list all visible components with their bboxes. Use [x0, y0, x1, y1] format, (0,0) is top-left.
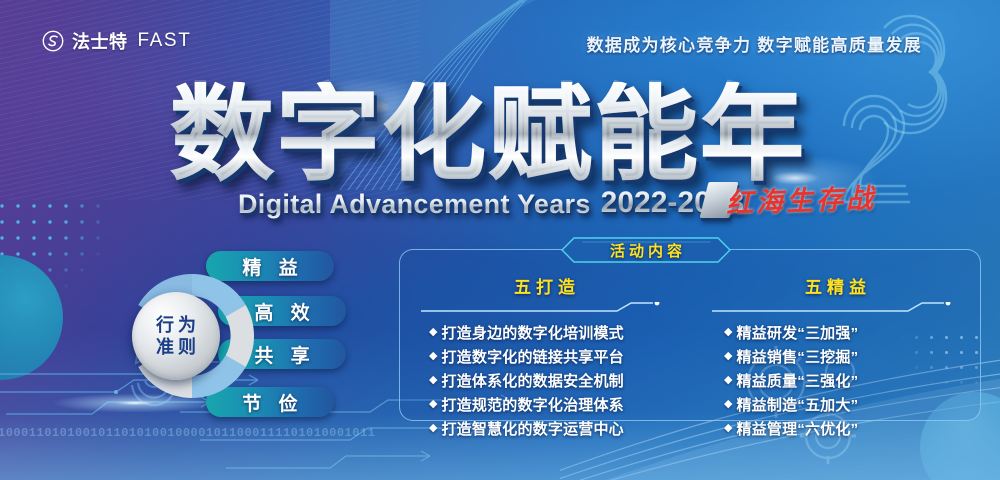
bullet-icon: ◆: [724, 327, 732, 338]
bullet-icon: ◆: [724, 399, 732, 410]
list-item[interactable]: ◆ 精益制造“五加大”: [724, 394, 981, 415]
bullet-icon: ◆: [429, 327, 437, 338]
bullet-icon: ◆: [429, 375, 437, 386]
list-item-label: 打造规范的数字化治理体系: [441, 394, 623, 415]
list-item[interactable]: ◆ 精益研发“三加强”: [724, 322, 981, 343]
list-item-label: 打造身边的数字化培训模式: [441, 322, 623, 343]
subtitle-english: Digital Advancement Years: [238, 189, 591, 220]
column-title-1: 五精益: [690, 273, 981, 298]
activity-ribbon-label: 活动内容: [606, 240, 686, 261]
list-item[interactable]: ◆ 精益质量“三强化”: [724, 370, 981, 391]
subtitle-block: Digital Advancement Years 2022-2023: [238, 186, 744, 220]
list-item[interactable]: ◆ 打造数字化的链接共享平台: [429, 346, 690, 367]
activity-columns: 五打造 ◆ 打造身边的数字化培训模式 ◆ 打造数字化的链接共享平台 ◆ 打造体系…: [399, 249, 981, 421]
poster-canvas: 1000110101001011010100100001011000111101…: [0, 0, 1000, 480]
column-title-0: 五打造: [399, 273, 690, 298]
page-title: 数字化赋能年: [170, 82, 806, 186]
donut-center-line2: 准则: [152, 337, 200, 357]
bullet-icon: ◆: [429, 423, 437, 434]
list-item-label: 精益质量“三强化”: [736, 370, 858, 391]
bullet-icon: ◆: [724, 423, 732, 434]
list-item[interactable]: ◆ 打造身边的数字化培训模式: [429, 322, 690, 343]
calligraphy-tagline: 红海生存战: [725, 176, 876, 220]
column-rule-1-icon: [712, 302, 962, 314]
bullet-icon: ◆: [724, 351, 732, 362]
activity-column-1: 五精益 ◆ 精益研发“三加强” ◆ 精益销售“三挖掘” ◆ 精益质量“三强化”: [690, 249, 981, 421]
header-tagline: 数据成为核心竞争力 数字赋能高质量发展: [587, 31, 922, 56]
list-item-label: 打造智慧化的数字运营中心: [441, 418, 623, 439]
column-list-0: ◆ 打造身边的数字化培训模式 ◆ 打造数字化的链接共享平台 ◆ 打造体系化的数据…: [429, 322, 690, 439]
list-item[interactable]: ◆ 打造体系化的数据安全机制: [429, 370, 690, 391]
list-item-label: 精益销售“三挖掘”: [736, 346, 858, 367]
list-item-label: 打造数字化的链接共享平台: [441, 346, 623, 367]
donut-center-label: 行为 准则: [132, 292, 220, 380]
list-item[interactable]: ◆ 精益管理“六优化”: [724, 418, 981, 439]
brand-name-cn: 法士特: [72, 28, 128, 54]
brand-name-en: FAST: [138, 30, 192, 52]
main-title-block: 数字化赋能年: [0, 74, 1000, 194]
bullet-icon: ◆: [429, 399, 437, 410]
bullet-icon: ◆: [429, 351, 437, 362]
list-item-label: 精益管理“六优化”: [736, 418, 858, 439]
list-item[interactable]: ◆ 精益销售“三挖掘”: [724, 346, 981, 367]
activity-column-0: 五打造 ◆ 打造身边的数字化培训模式 ◆ 打造数字化的链接共享平台 ◆ 打造体系…: [399, 249, 690, 421]
list-item-label: 打造体系化的数据安全机制: [441, 370, 623, 391]
fast-swirl-logo-icon: [42, 30, 64, 52]
list-item-label: 精益制造“五加大”: [736, 394, 858, 415]
list-item-label: 精益研发“三加强”: [736, 322, 858, 343]
brand-logo[interactable]: 法士特 FAST: [42, 28, 191, 54]
list-item[interactable]: ◆ 打造智慧化的数字运营中心: [429, 418, 690, 439]
activity-ribbon: 活动内容: [560, 237, 732, 263]
principles-donut-chart: 行为 准则: [118, 262, 266, 410]
list-item[interactable]: ◆ 打造规范的数字化治理体系: [429, 394, 690, 415]
bullet-icon: ◆: [724, 375, 732, 386]
donut-center-line1: 行为: [152, 315, 200, 335]
column-list-1: ◆ 精益研发“三加强” ◆ 精益销售“三挖掘” ◆ 精益质量“三强化” ◆ 精益…: [724, 322, 981, 439]
column-rule-0-icon: [421, 302, 671, 314]
